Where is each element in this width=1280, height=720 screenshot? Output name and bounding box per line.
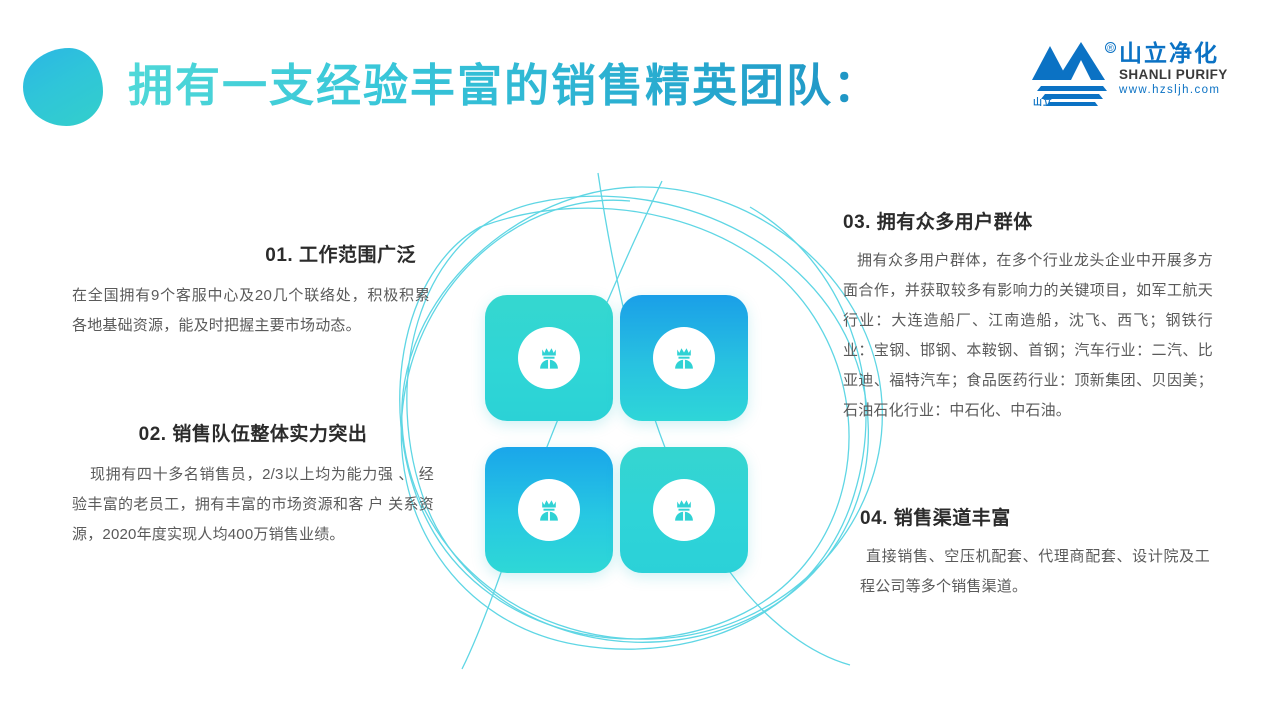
- company-logo: ® 山立 山立净化 SHANLI PURIFY www.hzsljh.com: [1027, 38, 1242, 114]
- block-01-title: 01. 工作范围广泛: [72, 243, 430, 269]
- block-04-body: 直接销售、空压机配套、代理商配套、设计院及工程公司等多个销售渠道。: [860, 542, 1210, 602]
- block-02-body: 现拥有四十多名销售员，2/3以上均为能力强 、 经验丰富的老员工，拥有丰富的市场…: [72, 460, 434, 550]
- crowned-person-icon: [667, 341, 701, 375]
- icon-circle-3: [518, 479, 580, 541]
- block-04-title: 04. 销售渠道丰富: [860, 506, 1210, 532]
- block-03-title: 03. 拥有众多用户群体: [843, 210, 1213, 236]
- logo-mark-caption: 山立: [1033, 95, 1053, 108]
- tile-cell-2: [616, 282, 751, 434]
- icon-circle-4: [653, 479, 715, 541]
- icon-circle-2: [653, 327, 715, 389]
- icon-tile-grid: [481, 282, 751, 587]
- icon-tile-2[interactable]: [620, 295, 748, 421]
- logo-name-cn: 山立净化: [1119, 40, 1243, 67]
- block-03-body: 拥有众多用户群体，在多个行业龙头企业中开展多方面合作，并获取较多有影响力的关键项…: [843, 246, 1213, 426]
- tile-cell-1: [481, 282, 616, 434]
- content-block-03: 03. 拥有众多用户群体 拥有众多用户群体，在多个行业龙头企业中开展多方面合作，…: [843, 210, 1213, 426]
- icon-tile-3[interactable]: [485, 447, 613, 573]
- content-block-01: 01. 工作范围广泛 在全国拥有9个客服中心及20几个联络处，积极积累各地基础资…: [72, 243, 430, 341]
- block-01-body: 在全国拥有9个客服中心及20几个联络处，积极积累各地基础资源，能及时把握主要市场…: [72, 281, 430, 341]
- logo-website: www.hzsljh.com: [1119, 83, 1243, 98]
- crowned-person-icon: [532, 493, 566, 527]
- tile-cell-4: [616, 434, 751, 586]
- icon-tile-4[interactable]: [620, 447, 748, 573]
- page-title: 拥有一支经验丰富的销售精英团队：: [128, 52, 880, 120]
- block-02-title: 02. 销售队伍整体实力突出: [72, 422, 434, 448]
- registered-trademark-icon: ®: [1105, 42, 1116, 53]
- crowned-person-icon: [667, 493, 701, 527]
- logo-name-en: SHANLI PURIFY: [1119, 67, 1243, 83]
- content-block-02: 02. 销售队伍整体实力突出 现拥有四十多名销售员，2/3以上均为能力强 、 经…: [72, 422, 434, 550]
- slide-root: 拥有一支经验丰富的销售精英团队： ® 山立 山立净化 SHANLI PURIFY…: [0, 0, 1280, 720]
- icon-circle-1: [518, 327, 580, 389]
- content-block-04: 04. 销售渠道丰富 直接销售、空压机配套、代理商配套、设计院及工程公司等多个销…: [860, 506, 1210, 602]
- crowned-person-icon: [532, 341, 566, 375]
- logo-text-group: 山立净化 SHANLI PURIFY www.hzsljh.com: [1119, 40, 1243, 98]
- icon-tile-1[interactable]: [485, 295, 613, 421]
- tile-cell-3: [481, 434, 616, 586]
- header-blob-decoration: [23, 48, 103, 126]
